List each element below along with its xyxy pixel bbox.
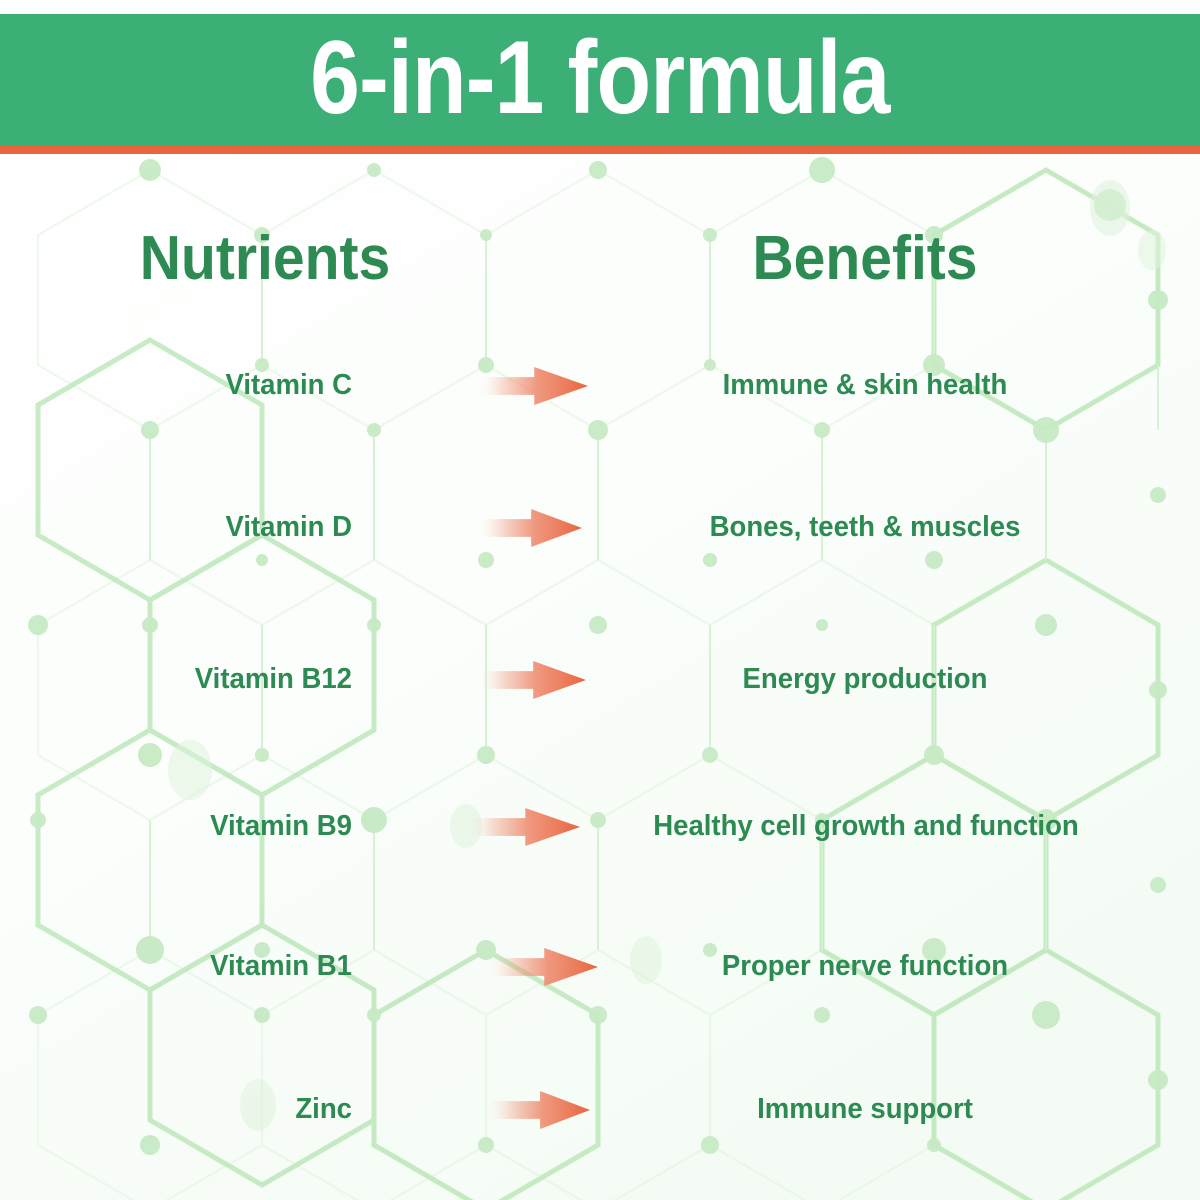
page-title: 6-in-1 formula (310, 26, 889, 130)
header-accent-rule (0, 146, 1200, 154)
nutrient-label: Vitamin C (18, 355, 352, 415)
benefit-label: Healthy cell growth and function (602, 796, 1130, 856)
nutrient-benefit-row: Vitamin B12Energy production (0, 649, 1200, 709)
arrow-right-icon (486, 1091, 590, 1129)
nutrient-label: Vitamin B12 (18, 649, 352, 709)
nutrient-label: Vitamin D (18, 497, 352, 557)
nutrient-label: Zinc (18, 1079, 352, 1139)
benefit-label: Immune support (613, 1079, 1117, 1139)
nutrient-label: Vitamin B9 (18, 796, 352, 856)
arrow-right-icon (466, 808, 580, 846)
arrow-right-icon (486, 948, 598, 986)
arrow-right-icon (476, 509, 582, 547)
nutrient-benefit-row: Vitamin B9Healthy cell growth and functi… (0, 796, 1200, 856)
nutrient-label: Vitamin B1 (18, 936, 352, 996)
benefit-label: Bones, teeth & muscles (613, 497, 1117, 557)
infographic-poster: 6-in-1 formula Nutrients Benefits Vitami… (0, 0, 1200, 1200)
arrow-right-icon (476, 367, 588, 405)
nutrient-benefit-rows: Vitamin CImmune & skin healthVitamin DBo… (0, 0, 1200, 1200)
nutrient-benefit-row: ZincImmune support (0, 1079, 1200, 1139)
nutrient-benefit-row: Vitamin B1Proper nerve function (0, 936, 1200, 996)
arrow-right-icon (476, 661, 586, 699)
header-band: 6-in-1 formula (0, 14, 1200, 146)
nutrient-benefit-row: Vitamin CImmune & skin health (0, 355, 1200, 415)
benefit-label: Proper nerve function (613, 936, 1117, 996)
benefit-label: Immune & skin health (613, 355, 1117, 415)
nutrient-benefit-row: Vitamin DBones, teeth & muscles (0, 497, 1200, 557)
benefit-label: Energy production (613, 649, 1117, 709)
